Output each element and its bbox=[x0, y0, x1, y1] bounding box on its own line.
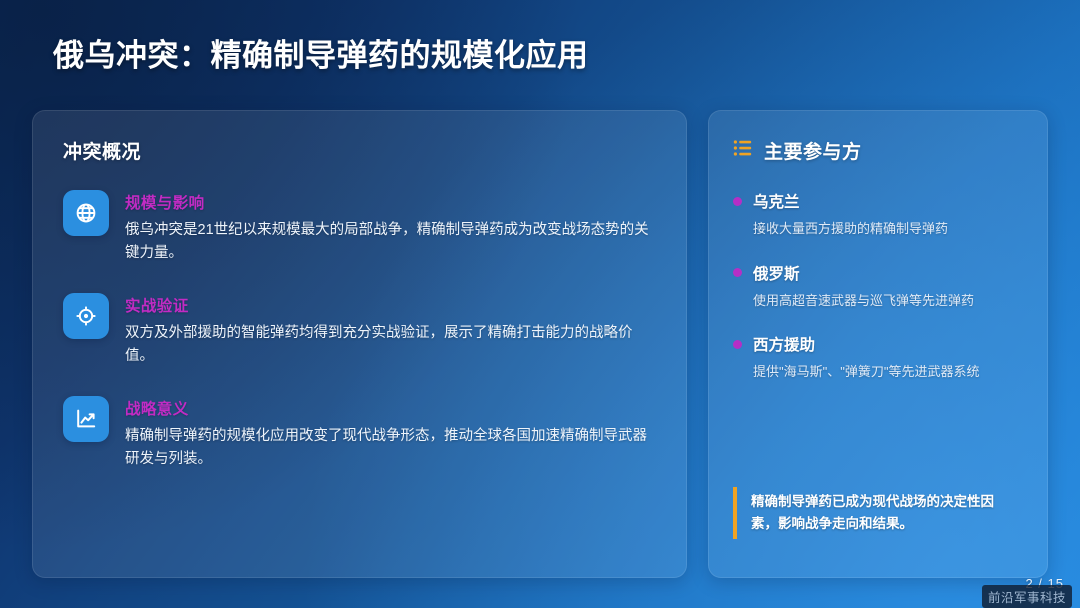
participant-name-row: 西方援助 bbox=[733, 333, 1023, 355]
crosshair-icon bbox=[63, 293, 109, 339]
participant-name: 西方援助 bbox=[753, 333, 815, 355]
participant-name: 俄罗斯 bbox=[753, 262, 800, 284]
left-card-title: 冲突概况 bbox=[63, 137, 656, 164]
key-takeaway-callout: 精确制导弹药已成为现代战场的决定性因素，影响战争走向和结果。 bbox=[733, 487, 1023, 539]
feature-item-scale-impact: 规模与影响 俄乌冲突是21世纪以来规模最大的局部战争，精确制导弹药成为改变战场态… bbox=[63, 190, 656, 266]
list-ul-icon bbox=[733, 138, 753, 163]
feature-item-combat-validation: 实战验证 双方及外部援助的智能弹药均得到充分实战验证，展示了精确打击能力的战略价… bbox=[63, 293, 656, 369]
page-title: 俄乌冲突：精确制导弹药的规模化应用 bbox=[53, 30, 589, 75]
chart-line-icon bbox=[63, 396, 109, 442]
participant-name-row: 乌克兰 bbox=[733, 190, 1023, 212]
participant-description: 使用高超音速武器与巡飞弹等先进弹药 bbox=[753, 291, 1023, 311]
bullet-dot-icon bbox=[733, 197, 742, 206]
globe-icon bbox=[63, 190, 109, 236]
conflict-overview-card: 冲突概况 规模与影响 俄乌冲突是21世纪以来规模最大的局部战争，精确制导弹药成为… bbox=[32, 110, 687, 578]
feature-body: 战略意义 精确制导弹药的规模化应用改变了现代战争形态，推动全球各国加速精确制导武… bbox=[125, 396, 656, 472]
right-card-header: 主要参与方 bbox=[733, 137, 1023, 164]
feature-title: 实战验证 bbox=[125, 294, 656, 316]
feature-description: 俄乌冲突是21世纪以来规模最大的局部战争，精确制导弹药成为改变战场态势的关键力量… bbox=[125, 219, 656, 266]
feature-description: 精确制导弹药的规模化应用改变了现代战争形态，推动全球各国加速精确制导武器研发与列… bbox=[125, 425, 656, 472]
key-takeaway-text: 精确制导弹药已成为现代战场的决定性因素，影响战争走向和结果。 bbox=[751, 491, 1017, 535]
bullet-dot-icon bbox=[733, 268, 742, 277]
bullet-dot-icon bbox=[733, 340, 742, 349]
feature-description: 双方及外部援助的智能弹药均得到充分实战验证，展示了精确打击能力的战略价值。 bbox=[125, 322, 656, 369]
feature-title: 战略意义 bbox=[125, 397, 656, 419]
right-card-title: 主要参与方 bbox=[764, 137, 862, 164]
participant-item-russia: 俄罗斯 使用高超音速武器与巡飞弹等先进弹药 bbox=[733, 262, 1023, 311]
watermark-label: 前沿军事科技 bbox=[982, 585, 1072, 608]
slide-root: 俄乌冲突：精确制导弹药的规模化应用 冲突概况 规模与影响 俄乌冲突 bbox=[0, 0, 1080, 608]
participant-name-row: 俄罗斯 bbox=[733, 262, 1023, 284]
feature-body: 规模与影响 俄乌冲突是21世纪以来规模最大的局部战争，精确制导弹药成为改变战场态… bbox=[125, 190, 656, 266]
feature-title: 规模与影响 bbox=[125, 191, 656, 213]
participant-description: 提供"海马斯"、"弹簧刀"等先进武器系统 bbox=[753, 362, 1023, 382]
feature-body: 实战验证 双方及外部援助的智能弹药均得到充分实战验证，展示了精确打击能力的战略价… bbox=[125, 293, 656, 369]
participant-description: 接收大量西方援助的精确制导弹药 bbox=[753, 219, 1023, 239]
participant-item-western-aid: 西方援助 提供"海马斯"、"弹簧刀"等先进武器系统 bbox=[733, 333, 1023, 382]
participant-name: 乌克兰 bbox=[753, 190, 800, 212]
feature-list: 规模与影响 俄乌冲突是21世纪以来规模最大的局部战争，精确制导弹药成为改变战场态… bbox=[63, 190, 656, 472]
key-participants-card: 主要参与方 乌克兰 接收大量西方援助的精确制导弹药 俄罗斯 使用高超音速武器与巡… bbox=[708, 110, 1048, 578]
participant-list: 乌克兰 接收大量西方援助的精确制导弹药 俄罗斯 使用高超音速武器与巡飞弹等先进弹… bbox=[733, 190, 1023, 382]
participant-item-ukraine: 乌克兰 接收大量西方援助的精确制导弹药 bbox=[733, 190, 1023, 239]
feature-item-strategic-significance: 战略意义 精确制导弹药的规模化应用改变了现代战争形态，推动全球各国加速精确制导武… bbox=[63, 396, 656, 472]
